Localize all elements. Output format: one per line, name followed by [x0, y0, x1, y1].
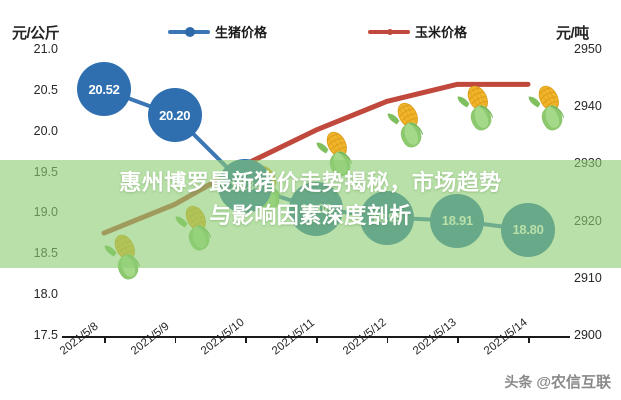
- left-axis-tick-20-5: 20.5: [14, 83, 58, 97]
- watermark-prefix: 头条: [504, 372, 532, 392]
- left-axis-unit-label: 元/公斤: [12, 22, 59, 43]
- x-axis-tick-mark: [316, 336, 318, 343]
- left-axis-tick-17-5: 17.5: [14, 328, 58, 342]
- x-axis-tick-mark: [175, 336, 177, 343]
- legend-item-pig-price[interactable]: 生猪价格: [168, 22, 267, 41]
- x-axis-tick-mark: [387, 336, 389, 343]
- left-axis-tick-21-0: 21.0: [14, 42, 58, 56]
- right-axis-tick-2940: 2940: [574, 99, 618, 113]
- x-axis-tick-mark: [245, 336, 247, 343]
- overlay-title-line-2: 与影响因素深度剖析: [0, 199, 621, 232]
- overlay-title: 惠州博罗最新猪价走势揭秘，市场趋势 与影响因素深度剖析: [0, 166, 621, 232]
- legend-marker-diamond-icon: [387, 29, 393, 35]
- x-axis-tick-mark: [457, 336, 459, 343]
- right-axis-tick-2950: 2950: [574, 42, 618, 56]
- watermark-handle: @农信互联: [536, 371, 611, 392]
- left-axis-tick-20-0: 20.0: [14, 124, 58, 138]
- legend-line-corn-icon: [368, 30, 410, 34]
- chart-canvas: 元/公斤 元/吨 生猪价格 玉米价格 21.020.520.019.519.01…: [0, 0, 621, 400]
- legend-label-pig: 生猪价格: [215, 22, 267, 41]
- legend-item-corn-price[interactable]: 玉米价格: [368, 22, 467, 41]
- x-axis-tick-mark: [104, 336, 106, 343]
- pig-price-bubble[interactable]: 20.52: [77, 62, 131, 116]
- legend-label-corn: 玉米价格: [415, 22, 467, 41]
- watermark: 头条 @农信互联: [504, 371, 611, 392]
- right-axis-unit-label: 元/吨: [556, 22, 589, 43]
- left-axis-tick-18-0: 18.0: [14, 287, 58, 301]
- overlay-title-line-1: 惠州博罗最新猪价走势揭秘，市场趋势: [0, 166, 621, 199]
- right-axis-tick-2900: 2900: [574, 328, 618, 342]
- legend-marker-circle-icon: [185, 27, 195, 37]
- legend-line-pig-icon: [168, 30, 210, 34]
- right-axis-tick-2910: 2910: [574, 271, 618, 285]
- x-axis-tick-mark: [528, 336, 530, 343]
- pig-price-bubble[interactable]: 20.20: [148, 88, 202, 142]
